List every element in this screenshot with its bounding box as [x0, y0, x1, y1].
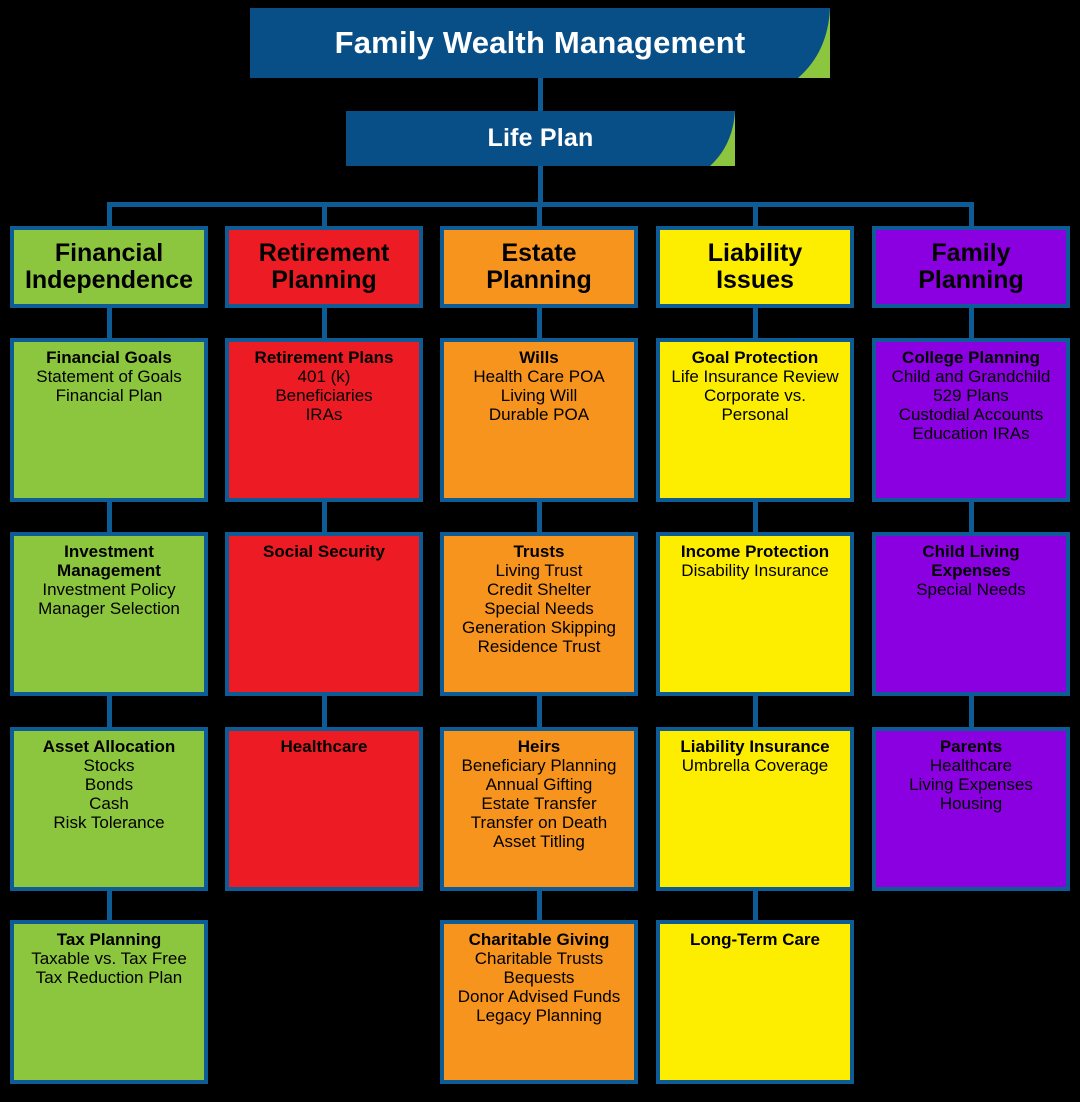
node-item: Credit Shelter	[487, 580, 591, 599]
node-title: Healthcare	[281, 737, 368, 756]
column-header-label: RetirementPlanning	[259, 240, 390, 294]
node-item: Disability Insurance	[681, 561, 828, 580]
connector-liability-issues-row-2	[753, 502, 758, 532]
connector-bus-to-liability-issues	[753, 202, 758, 226]
node-item: Donor Advised Funds	[458, 987, 621, 1006]
node-title: Income Protection	[681, 542, 829, 561]
node-estate-planning-4[interactable]: Charitable GivingCharitable TrustsBeques…	[440, 920, 638, 1084]
node-family-planning-2[interactable]: Child LivingExpensesSpecial Needs	[872, 532, 1070, 696]
connector-liability-issues-row-4	[753, 891, 758, 920]
node-liability-issues-1[interactable]: Goal ProtectionLife Insurance ReviewCorp…	[656, 338, 854, 502]
node-item: Bonds	[85, 775, 133, 794]
connector-lifeplan-to-bus	[538, 163, 543, 205]
node-estate-planning-3[interactable]: HeirsBeneficiary PlanningAnnual GiftingE…	[440, 727, 638, 891]
node-estate-planning-1[interactable]: WillsHealth Care POALiving WillDurable P…	[440, 338, 638, 502]
node-retirement-planning-1[interactable]: Retirement Plans401 (k)BeneficiariesIRAs	[225, 338, 423, 502]
node-item: Estate Transfer	[481, 794, 596, 813]
node-title: Liability Insurance	[680, 737, 829, 756]
connector-bus-to-family-planning	[969, 202, 974, 226]
column-header-label: FamilyPlanning	[918, 240, 1024, 294]
org-chart-canvas: Family Wealth Management Life Plan Finan…	[0, 0, 1080, 1102]
connector-retirement-planning-row-1	[322, 308, 327, 338]
node-item: Living Expenses	[909, 775, 1033, 794]
node-item: Durable POA	[489, 405, 589, 424]
node-item: Housing	[940, 794, 1002, 813]
connector-bus-to-financial-independence	[107, 202, 112, 226]
node-item: Transfer on Death	[471, 813, 607, 832]
node-retirement-planning-2[interactable]: Social Security	[225, 532, 423, 696]
connector-financial-independence-row-4	[107, 891, 112, 920]
node-item: Umbrella Coverage	[682, 756, 828, 775]
node-item: Health Care POA	[473, 367, 604, 386]
node-item: Legacy Planning	[476, 1006, 602, 1025]
node-title: Retirement Plans	[255, 348, 394, 367]
node-financial-independence-4[interactable]: Tax PlanningTaxable vs. Tax FreeTax Redu…	[10, 920, 208, 1084]
node-title: Child LivingExpenses	[922, 542, 1019, 580]
node-family-planning-3[interactable]: ParentsHealthcareLiving ExpensesHousing	[872, 727, 1070, 891]
node-item: Manager Selection	[38, 599, 180, 618]
connector-retirement-planning-row-3	[322, 696, 327, 727]
node-title: Goal Protection	[692, 348, 819, 367]
node-item: Charitable Trusts	[475, 949, 604, 968]
node-item: Child and Grandchild	[892, 367, 1051, 386]
connector-bus-to-retirement-planning	[322, 202, 327, 226]
column-header-retirement-planning[interactable]: RetirementPlanning	[225, 226, 423, 308]
connector-liability-issues-row-3	[753, 696, 758, 727]
connector-family-planning-row-3	[969, 696, 974, 727]
node-item: IRAs	[306, 405, 343, 424]
column-header-financial-independence[interactable]: FinancialIndependence	[10, 226, 208, 308]
connector-retirement-planning-row-2	[322, 502, 327, 532]
connector-bus-to-estate-planning	[537, 202, 542, 226]
column-header-label: EstatePlanning	[486, 240, 592, 294]
node-item: Taxable vs. Tax Free	[31, 949, 187, 968]
connector-title-to-lifeplan	[538, 76, 543, 114]
node-item: Beneficiaries	[275, 386, 372, 405]
node-financial-independence-1[interactable]: Financial GoalsStatement of GoalsFinanci…	[10, 338, 208, 502]
connector-liability-issues-row-1	[753, 308, 758, 338]
node-title: Parents	[940, 737, 1002, 756]
chart-title-box: Family Wealth Management	[250, 8, 830, 78]
node-item: Corporate vs.	[704, 386, 806, 405]
node-item: 529 Plans	[933, 386, 1009, 405]
node-title: Social Security	[263, 542, 385, 561]
node-title: InvestmentManagement	[57, 542, 161, 580]
node-item: Statement of Goals	[36, 367, 182, 386]
column-header-family-planning[interactable]: FamilyPlanning	[872, 226, 1070, 308]
node-item: Tax Reduction Plan	[36, 968, 182, 987]
node-item: Financial Plan	[56, 386, 163, 405]
node-item: Healthcare	[930, 756, 1012, 775]
node-title: Wills	[519, 348, 559, 367]
node-item: Stocks	[83, 756, 134, 775]
node-item: Education IRAs	[912, 424, 1029, 443]
connector-estate-planning-row-2	[537, 502, 542, 532]
node-item: Beneficiary Planning	[462, 756, 617, 775]
node-item: Special Needs	[916, 580, 1026, 599]
column-header-liability-issues[interactable]: LiabilityIssues	[656, 226, 854, 308]
node-estate-planning-2[interactable]: TrustsLiving TrustCredit ShelterSpecial …	[440, 532, 638, 696]
node-item: Living Trust	[496, 561, 583, 580]
node-item: Bequests	[504, 968, 575, 987]
node-item: Life Insurance Review	[671, 367, 838, 386]
node-item: Risk Tolerance	[53, 813, 164, 832]
connector-family-planning-row-2	[969, 502, 974, 532]
node-item: Annual Gifting	[486, 775, 593, 794]
node-item: Generation Skipping	[462, 618, 616, 637]
connector-estate-planning-row-4	[537, 891, 542, 920]
node-financial-independence-3[interactable]: Asset AllocationStocksBondsCashRisk Tole…	[10, 727, 208, 891]
node-family-planning-1[interactable]: College PlanningChild and Grandchild529 …	[872, 338, 1070, 502]
node-title: Heirs	[518, 737, 561, 756]
node-liability-issues-4[interactable]: Long-Term Care	[656, 920, 854, 1084]
node-item: Custodial Accounts	[899, 405, 1044, 424]
node-item: Investment Policy	[42, 580, 175, 599]
life-plan-label: Life Plan	[488, 124, 594, 153]
node-title: Tax Planning	[57, 930, 162, 949]
column-header-estate-planning[interactable]: EstatePlanning	[440, 226, 638, 308]
node-item: Asset Titling	[493, 832, 585, 851]
connector-financial-independence-row-2	[107, 502, 112, 532]
column-header-label: FinancialIndependence	[25, 240, 193, 294]
connector-estate-planning-row-1	[537, 308, 542, 338]
node-item: Cash	[89, 794, 129, 813]
node-title: Trusts	[513, 542, 564, 561]
node-title: Charitable Giving	[469, 930, 610, 949]
node-title: Long-Term Care	[690, 930, 820, 949]
node-item: Special Needs	[484, 599, 594, 618]
node-liability-issues-3[interactable]: Liability InsuranceUmbrella Coverage	[656, 727, 854, 891]
node-retirement-planning-3[interactable]: Healthcare	[225, 727, 423, 891]
node-liability-issues-2[interactable]: Income ProtectionDisability Insurance	[656, 532, 854, 696]
node-item: Living Will	[501, 386, 578, 405]
connector-estate-planning-row-3	[537, 696, 542, 727]
node-title: Asset Allocation	[43, 737, 176, 756]
node-title: College Planning	[902, 348, 1040, 367]
connector-financial-independence-row-1	[107, 308, 112, 338]
connector-family-planning-row-1	[969, 308, 974, 338]
column-header-label: LiabilityIssues	[708, 240, 802, 294]
node-item: Personal	[721, 405, 788, 424]
node-title: Financial Goals	[46, 348, 172, 367]
node-financial-independence-2[interactable]: InvestmentManagementInvestment PolicyMan…	[10, 532, 208, 696]
connector-financial-independence-row-3	[107, 696, 112, 727]
node-item: Residence Trust	[478, 637, 601, 656]
chart-title: Family Wealth Management	[335, 25, 746, 61]
node-item: 401 (k)	[298, 367, 351, 386]
life-plan-box: Life Plan	[346, 111, 735, 166]
